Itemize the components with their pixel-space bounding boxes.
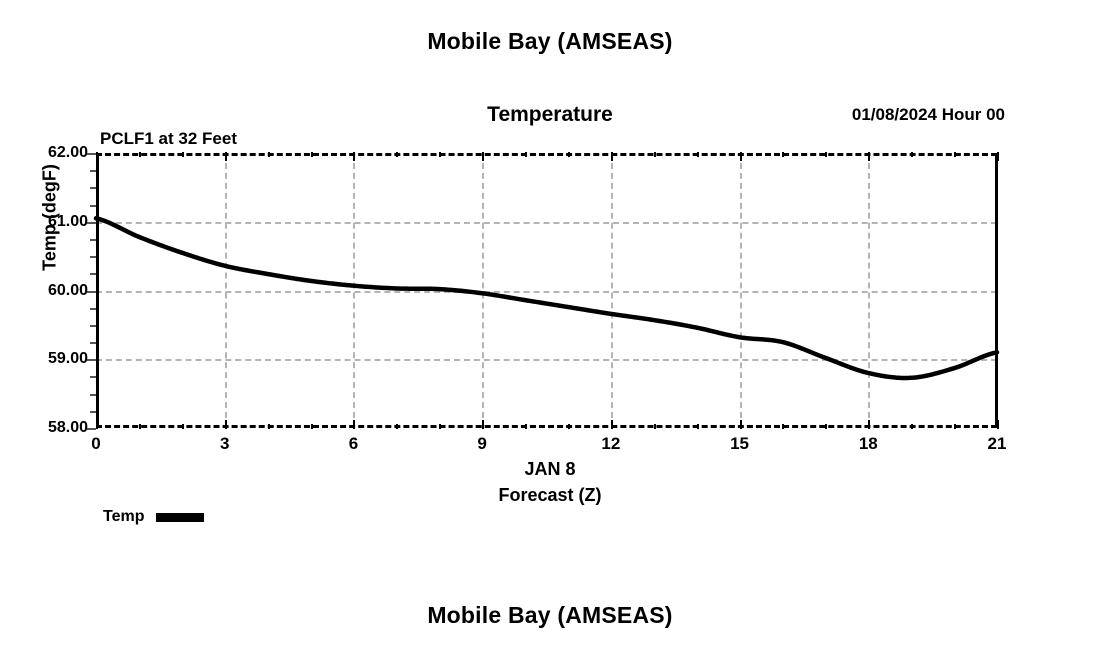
y-axis-minor-tick [90,394,96,396]
y-axis-minor-tick [90,325,96,327]
x-axis-tick [997,420,999,429]
x-axis-minor-tick [825,152,827,157]
x-axis-minor-tick [697,424,699,429]
x-axis-minor-tick [182,152,184,157]
x-axis-tick-label: 6 [349,434,358,454]
x-axis-tick [353,152,355,161]
x-axis-tick [482,420,484,429]
x-axis-minor-tick [911,152,913,157]
x-axis-minor-tick [911,424,913,429]
x-axis-minor-tick [568,424,570,429]
x-axis-minor-tick [697,152,699,157]
plot-border-top [96,153,997,156]
x-axis-tick [868,420,870,429]
legend-swatch-temp [156,513,204,522]
x-axis-minor-tick [311,424,313,429]
y-axis-minor-tick [90,308,96,310]
y-axis-minor-tick [90,411,96,413]
y-axis-tick-label: 60.00 [48,282,88,300]
y-axis-tick-label: 62.00 [48,144,88,162]
x-axis-minor-tick [139,152,141,157]
x-axis-tick [96,152,98,161]
x-axis-tick [611,420,613,429]
x-axis-tick [96,420,98,429]
legend: Temp [103,508,204,526]
y-axis-tick [87,291,96,293]
x-axis-tick [482,152,484,161]
chart-page: Mobile Bay (AMSEAS) PCLF1 at 32 Feet 30.… [0,0,1100,650]
x-axis-minor-tick [782,152,784,157]
x-axis-tick [225,420,227,429]
temperature-series-line [96,153,997,428]
y-axis-tick [87,428,96,430]
x-axis-minor-tick [396,424,398,429]
page-title-top: Mobile Bay (AMSEAS) [0,28,1100,55]
x-axis-tick [225,152,227,161]
y-axis-minor-tick [90,205,96,207]
plot-border-right [995,153,998,428]
forecast-datetime: 01/08/2024 Hour 00 [852,105,1005,125]
x-axis-tick-label: 15 [730,434,749,454]
y-axis-tick [87,359,96,361]
x-axis-tick-label: 3 [220,434,229,454]
x-axis-minor-tick [525,152,527,157]
y-axis-tick-label: 59.00 [48,350,88,368]
x-axis-minor-tick [139,424,141,429]
x-axis-minor-tick [654,152,656,157]
page-title-bottom: Mobile Bay (AMSEAS) [0,602,1100,629]
y-axis-minor-tick [90,342,96,344]
y-axis-tick-label: 58.00 [48,419,88,437]
x-axis-tick [740,152,742,161]
y-axis-minor-tick [90,273,96,275]
x-axis-minor-tick [268,424,270,429]
x-axis-tick [611,152,613,161]
x-axis-minor-tick [439,424,441,429]
x-axis-minor-tick [954,424,956,429]
x-axis-tick-label: 18 [859,434,878,454]
y-axis-tick-label: 61.00 [48,213,88,231]
x-axis-minor-tick [568,152,570,157]
x-axis-minor-tick [525,424,527,429]
x-axis-tick-label: 21 [988,434,1007,454]
plot-area [96,153,997,428]
legend-label-temp: Temp [103,508,144,526]
station-name-depth: PCLF1 at 32 Feet [100,126,260,151]
y-axis-minor-tick [90,170,96,172]
x-axis-minor-tick [268,152,270,157]
x-axis-tick [997,152,999,161]
y-axis-tick [87,222,96,224]
x-axis-tick-label: 12 [601,434,620,454]
y-axis-minor-tick [90,187,96,189]
x-axis-tick-labels: 036912151821 [96,434,997,458]
x-axis-minor-tick [825,424,827,429]
y-axis-minor-tick [90,239,96,241]
x-axis-tick [868,152,870,161]
plot-border-bottom [96,425,997,428]
x-axis-title: JAN 8 Forecast (Z) [0,456,1100,508]
x-axis-tick-label: 9 [477,434,486,454]
y-axis-tick-labels: 58.0059.0060.0061.0062.00 [0,153,88,428]
x-axis-minor-tick [782,424,784,429]
x-axis-title-unit: Forecast (Z) [0,482,1100,508]
plot-border-left [96,153,99,428]
x-axis-tick [740,420,742,429]
x-axis-minor-tick [654,424,656,429]
x-axis-tick-label: 0 [91,434,100,454]
y-axis-minor-tick [90,376,96,378]
y-axis-tick [87,153,96,155]
x-axis-minor-tick [439,152,441,157]
x-axis-minor-tick [954,152,956,157]
x-axis-minor-tick [396,152,398,157]
x-axis-minor-tick [182,424,184,429]
y-axis-minor-tick [90,256,96,258]
x-axis-minor-tick [311,152,313,157]
x-axis-title-date: JAN 8 [0,456,1100,482]
x-axis-tick [353,420,355,429]
